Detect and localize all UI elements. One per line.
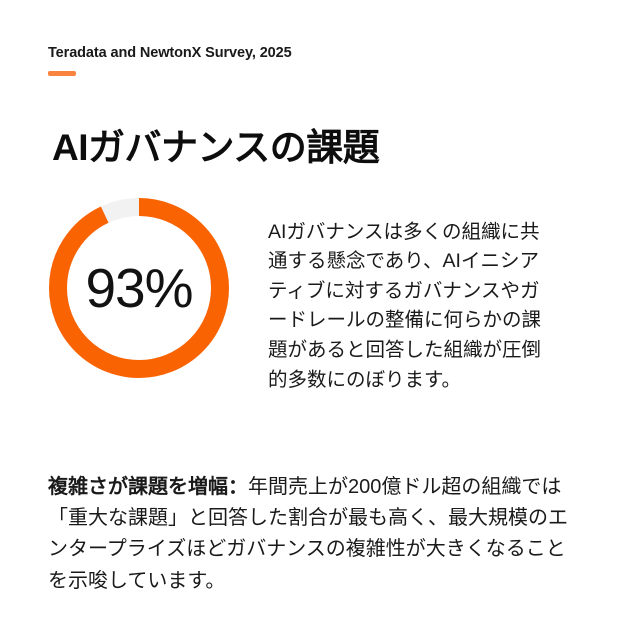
footnote-lead: 複雑さが課題を増幅： bbox=[48, 476, 248, 498]
donut-chart: 93% bbox=[49, 198, 229, 378]
accent-rule bbox=[48, 71, 76, 76]
slide-root: Teradata and NewtonX Survey, 2025 AIガバナン… bbox=[0, 0, 625, 625]
footnote-paragraph: 複雑さが課題を増幅：年間売上が200億ドル超の組織では「重大な課題」と回答した割… bbox=[48, 472, 583, 597]
donut-center-value: 93% bbox=[49, 198, 229, 378]
page-title: AIガバナンスの課題 bbox=[52, 125, 379, 171]
survey-source-eyebrow: Teradata and NewtonX Survey, 2025 bbox=[48, 45, 292, 61]
stat-description-paragraph: AIガバナンスは多くの組織に共通する懸念であり、AIイニシアティブに対するガバナ… bbox=[268, 218, 546, 396]
